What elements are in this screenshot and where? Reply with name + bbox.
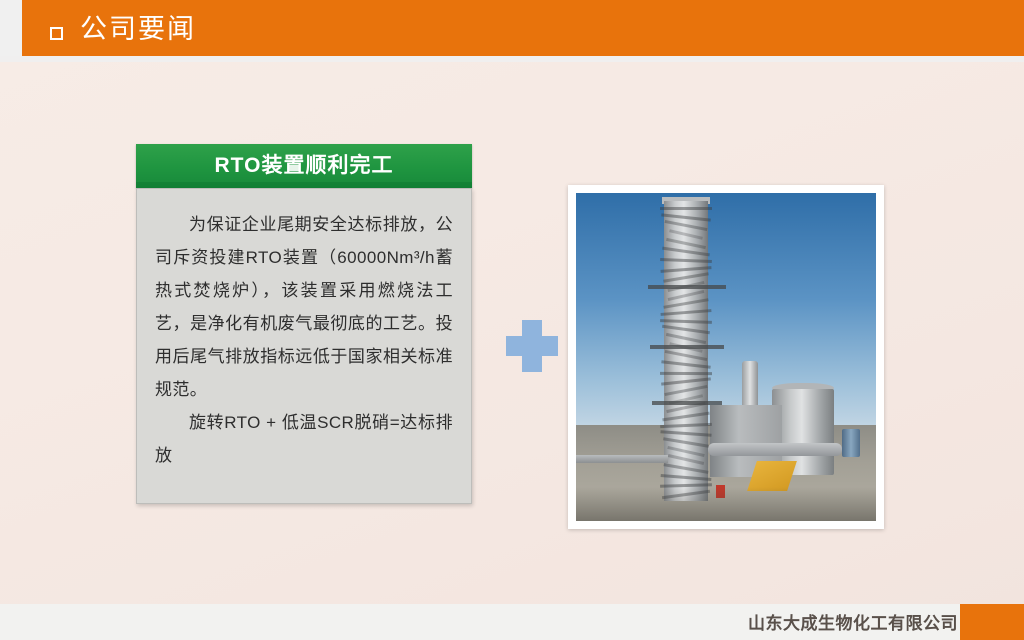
photo-spiral-step: [660, 266, 711, 273]
news-card-title: RTO装置顺利完工: [136, 144, 472, 188]
photo-duct: [708, 443, 842, 456]
square-outline-icon: [50, 27, 63, 40]
photo-platform: [650, 345, 724, 349]
photo-spiral-staircase: [660, 207, 712, 497]
rto-incinerator-plant-photo: [576, 193, 876, 521]
photo-platform: [648, 285, 726, 289]
news-paragraph-1: 为保证企业尾期安全达标排放，公司斥资投建RTO装置（60000Nm³/h蓄热式焚…: [155, 208, 453, 406]
photo-spiral-step: [661, 360, 710, 368]
photo-spiral-step: [662, 412, 709, 422]
photo-blue-drum: [842, 429, 860, 457]
photo-spiral-step: [660, 423, 712, 428]
photo-platform: [652, 401, 722, 405]
plus-cross-vertical-bar: [522, 320, 542, 372]
photo-spiral-step: [669, 229, 703, 240]
photo-spiral-step: [661, 309, 712, 316]
photo-spiral-step: [660, 207, 712, 210]
slide: 公司要闻 RTO装置顺利完工 为保证企业尾期安全达标排放，公司斥资投建RTO装置…: [0, 0, 1024, 640]
footer-accent-block: [960, 604, 1024, 640]
plus-cross-shape-icon: [506, 320, 558, 372]
photo-frame: [568, 185, 884, 529]
news-card-title-bar: RTO装置顺利完工: [136, 144, 472, 188]
news-card-body: 为保证企业尾期安全达标排放，公司斥资投建RTO装置（60000Nm³/h蓄热式焚…: [136, 188, 472, 504]
photo-spiral-step: [660, 258, 712, 263]
footer-band: 山东大成生物化工有限公司: [0, 604, 1024, 640]
photo-ground-shadow: [576, 487, 876, 521]
photo-spiral-step: [660, 319, 712, 324]
news-paragraph-2: 旋转RTO + 低温SCR脱硝=达标排放: [155, 406, 453, 472]
photo-spiral-step: [660, 431, 711, 437]
header-left-accent: [0, 0, 22, 56]
page-title: 公司要闻: [80, 14, 196, 44]
photo-spiral-step: [660, 372, 712, 375]
photo-small-silo: [742, 361, 758, 411]
header-bar: 公司要闻: [0, 0, 1024, 56]
footer-company-name: 山东大成生物化工有限公司: [658, 609, 960, 634]
photo-spiral-step: [661, 474, 712, 481]
photo-pipe-rack: [576, 455, 668, 463]
header-underline: [0, 56, 1024, 62]
news-card: RTO装置顺利完工 为保证企业尾期安全达标排放，公司斥资投建RTO装置（6000…: [136, 144, 472, 504]
